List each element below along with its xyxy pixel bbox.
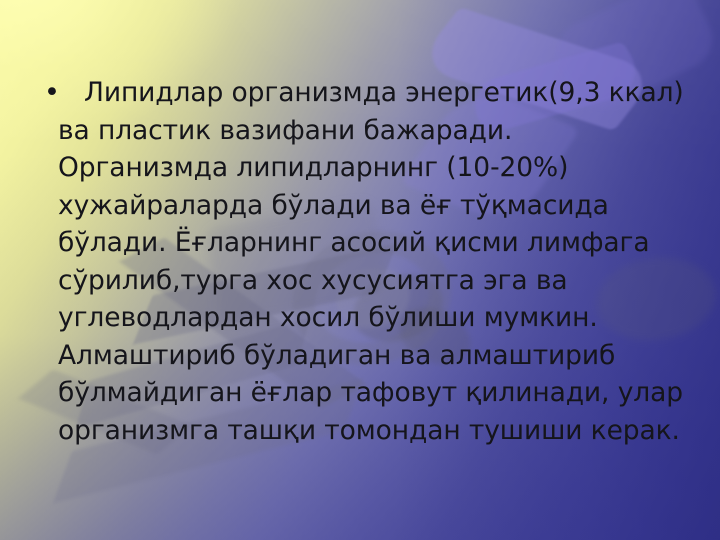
slide-content-body: • Липидлар организмда энергетик(9,3 ккал… — [0, 0, 720, 540]
bullet-list: • Липидлар организмда энергетик(9,3 ккал… — [38, 74, 686, 449]
presentation-slide: • Липидлар организмда энергетик(9,3 ккал… — [0, 0, 720, 540]
bullet-paragraph-text: Липидлар организмда энергетик(9,3 ккал) … — [58, 74, 686, 449]
list-item: • Липидлар организмда энергетик(9,3 ккал… — [38, 74, 686, 449]
